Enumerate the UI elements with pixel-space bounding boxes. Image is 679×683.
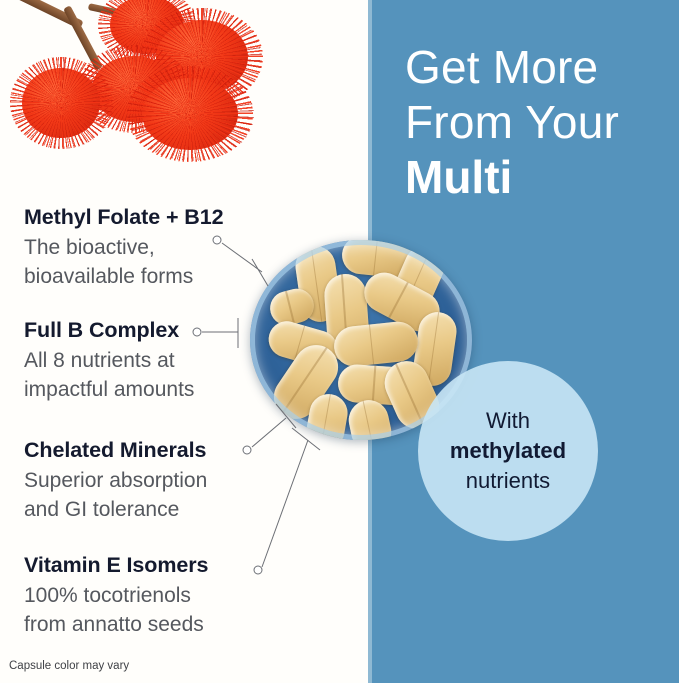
feature-item: Methyl Folate + B12 The bioactive, bioav… [24,205,324,291]
feature-description-line: impactful amounts [24,375,324,404]
feature-description-line: The bioactive, [24,233,324,262]
product-feature-infographic: Get More From Your Multi With methylated [0,0,679,683]
feature-description: Superior absorption and GI tolerance [24,466,324,524]
badge-line-1: With [486,406,530,436]
headline-line-3: Multi [405,150,673,205]
feature-title: Vitamin E Isomers [24,553,324,578]
feature-item: Full B Complex All 8 nutrients at impact… [24,318,324,404]
seed-pod [142,78,238,150]
page-title: Get More From Your Multi [405,40,673,205]
feature-item: Chelated Minerals Superior absorption an… [24,438,324,524]
status-badge: With methylated nutrients [418,361,598,541]
feature-description-line: Superior absorption [24,466,324,495]
headline-line-1: Get More [405,40,673,95]
feature-description-line: bioavailable forms [24,262,324,291]
seed-pod [22,68,100,138]
feature-item: Vitamin E Isomers 100% tocotrienols from… [24,553,324,639]
feature-description-line: and GI tolerance [24,495,324,524]
feature-description: The bioactive, bioavailable forms [24,233,324,291]
badge-line-2: methylated [450,436,566,466]
feature-title: Methyl Folate + B12 [24,205,324,230]
feature-description: 100% tocotrienols from annatto seeds [24,581,324,639]
feature-description-line: from annatto seeds [24,610,324,639]
disclaimer-text: Capsule color may vary [9,660,129,672]
feature-title: Chelated Minerals [24,438,324,463]
headline-line-2: From Your [405,95,673,150]
feature-description-line: 100% tocotrienols [24,581,324,610]
feature-description-line: All 8 nutrients at [24,346,324,375]
badge-line-3: nutrients [466,466,550,496]
feature-description: All 8 nutrients at impactful amounts [24,346,324,404]
feature-title: Full B Complex [24,318,324,343]
annatto-seed-pods-image [0,0,242,156]
